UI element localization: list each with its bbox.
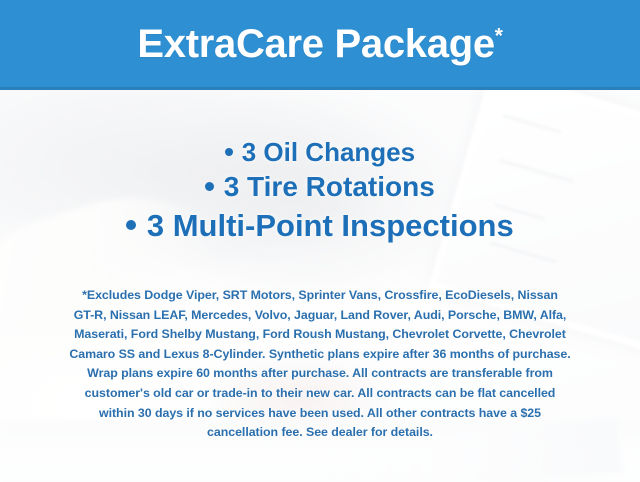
extracare-package-ad: ExtraCare Package* 3 Oil Changes 3 Tire … — [0, 0, 640, 482]
bullet-dot-icon — [205, 182, 214, 191]
header-banner: ExtraCare Package* — [0, 0, 640, 90]
bullet-dot-icon — [225, 148, 233, 156]
disclaimer-line: Camaro SS and Lexus 8-Cylinder. Syntheti… — [28, 345, 612, 365]
page-title: ExtraCare Package* — [137, 24, 502, 64]
disclaimer-line: cancellation fee. See dealer for details… — [28, 423, 612, 443]
benefit-label: 3 Oil Changes — [242, 137, 415, 167]
disclaimer-line: within 30 days if no services have been … — [28, 404, 612, 424]
list-item: 3 Multi-Point Inspections — [0, 208, 640, 244]
benefit-label: 3 Multi-Point Inspections — [147, 208, 514, 243]
bullet-dot-icon — [126, 220, 136, 230]
list-item: 3 Tire Rotations — [0, 171, 640, 203]
disclaimer-line: GT-R, Nissan LEAF, Mercedes, Volvo, Jagu… — [28, 306, 612, 326]
disclaimer-line: Wrap plans expire 60 months after purcha… — [28, 364, 612, 384]
page-title-asterisk: * — [495, 24, 503, 47]
disclaimer-line: customer's old car or trade-in to their … — [28, 384, 612, 404]
page-title-text: ExtraCare Package — [137, 22, 494, 66]
disclaimer-text: *Excludes Dodge Viper, SRT Motors, Sprin… — [28, 286, 612, 443]
benefits-list: 3 Oil Changes 3 Tire Rotations 3 Multi-P… — [0, 137, 640, 244]
disclaimer-line: *Excludes Dodge Viper, SRT Motors, Sprin… — [28, 286, 612, 306]
disclaimer-line: Maserati, Ford Shelby Mustang, Ford Rous… — [28, 325, 612, 345]
benefit-label: 3 Tire Rotations — [224, 171, 435, 202]
list-item: 3 Oil Changes — [0, 137, 640, 167]
